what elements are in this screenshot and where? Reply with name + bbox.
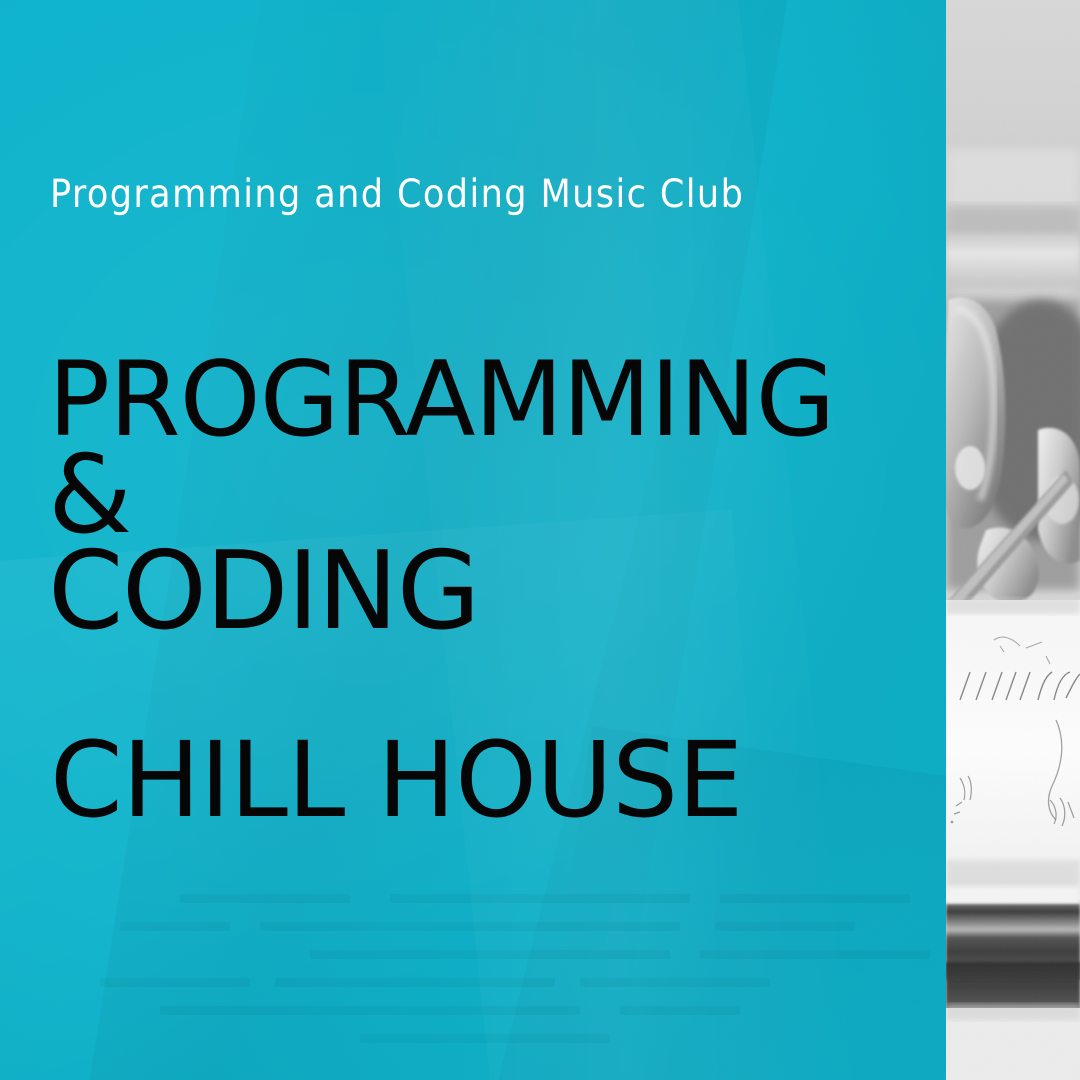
teal-background-panel: Programming and Coding Music Club PROGRA… (0, 0, 946, 1080)
poster-headline: PROGRAMMING & CODING (48, 352, 928, 640)
poster-genre-label: CHILL HOUSE (50, 728, 743, 832)
headline-line-1: PROGRAMMING (48, 352, 928, 448)
headline-line-3: CODING (48, 544, 928, 640)
hand-writing-photo-artwork (946, 0, 1080, 1080)
poster-canvas: Programming and Coding Music Club PROGRA… (0, 0, 1080, 1080)
hand-writing-photo (946, 0, 1080, 1080)
poster-text-content: Programming and Coding Music Club PROGRA… (0, 0, 946, 1080)
poster-subtitle: Programming and Coding Music Club (50, 172, 744, 217)
